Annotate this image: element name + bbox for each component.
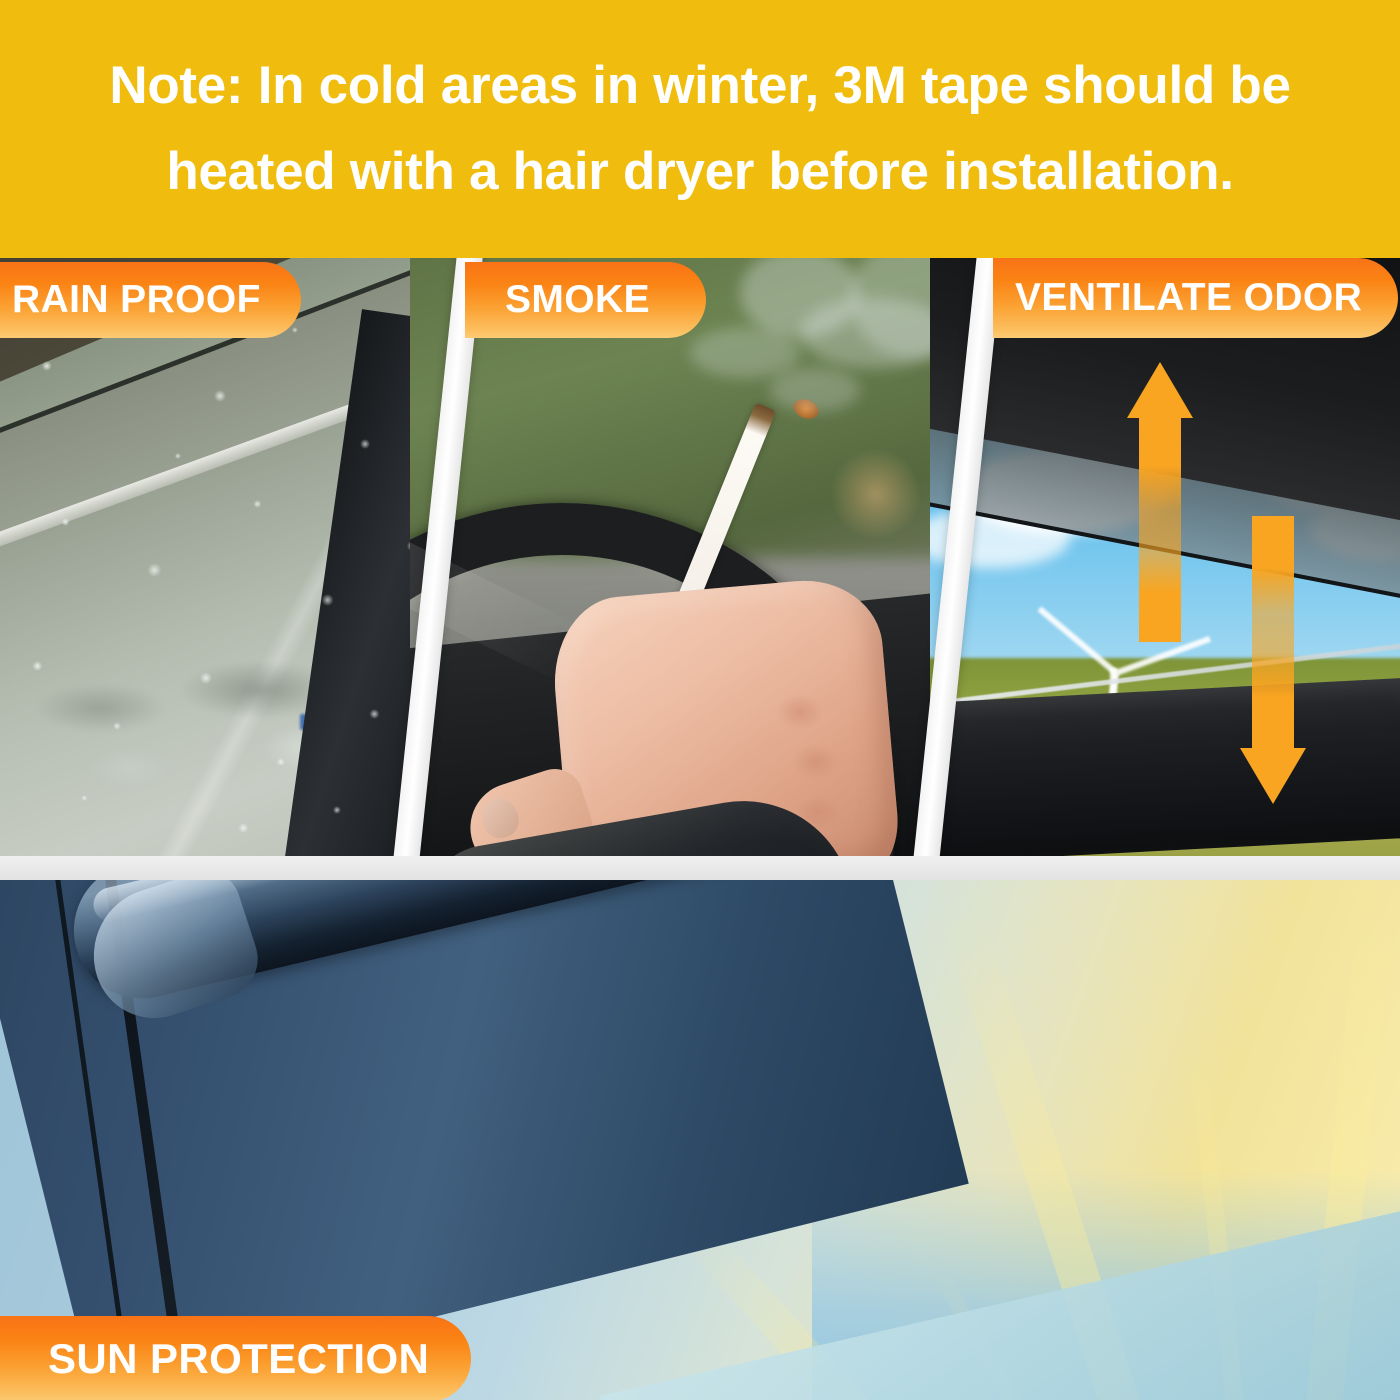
badge-ventilate-odor: VENTILATE ODOR — [993, 258, 1398, 338]
smoke-photo — [410, 258, 955, 858]
badge-rain-proof: RAIN PROOF — [0, 262, 301, 338]
smoke-wisp — [770, 368, 860, 412]
arrow-down-shaft — [1252, 516, 1294, 748]
badge-sun-protection: SUN PROTECTION — [0, 1316, 471, 1400]
row-gap-band — [0, 856, 1400, 880]
arrow-up-head — [1127, 362, 1193, 418]
arrow-up-shaft — [1139, 416, 1181, 642]
badge-sun-protection-label: SUN PROTECTION — [48, 1335, 429, 1383]
air-out-arrow — [1127, 362, 1193, 642]
vent-door-panel — [930, 678, 1400, 858]
badge-smoke-label: SMOKE — [505, 278, 650, 322]
air-in-arrow — [1240, 516, 1306, 804]
panel-smoke — [410, 258, 955, 858]
note-banner: Note: In cold areas in winter, 3M tape s… — [0, 0, 1400, 258]
ventilate-odor-photo — [930, 258, 1400, 858]
badge-rain-proof-label: RAIN PROOF — [12, 278, 261, 322]
note-line-1: Note: In cold areas in winter, 3M tape s… — [109, 43, 1290, 129]
rain-water-droplets — [0, 258, 468, 858]
badge-ventilate-odor-label: VENTILATE ODOR — [1015, 276, 1362, 320]
smoke-wisp — [690, 328, 800, 378]
product-feature-image: Note: In cold areas in winter, 3M tape s… — [0, 0, 1400, 1400]
rain-proof-photo — [0, 258, 468, 858]
note-text: Note: In cold areas in winter, 3M tape s… — [109, 43, 1290, 215]
smoke-bokeh-light — [830, 448, 922, 540]
panel-ventilate-odor — [930, 258, 1400, 858]
feature-panel-row — [0, 258, 1400, 858]
note-line-2: heated with a hair dryer before installa… — [109, 129, 1290, 215]
arrow-down-head — [1240, 748, 1306, 804]
panel-rain-proof — [0, 258, 468, 858]
badge-smoke: SMOKE — [465, 262, 706, 338]
